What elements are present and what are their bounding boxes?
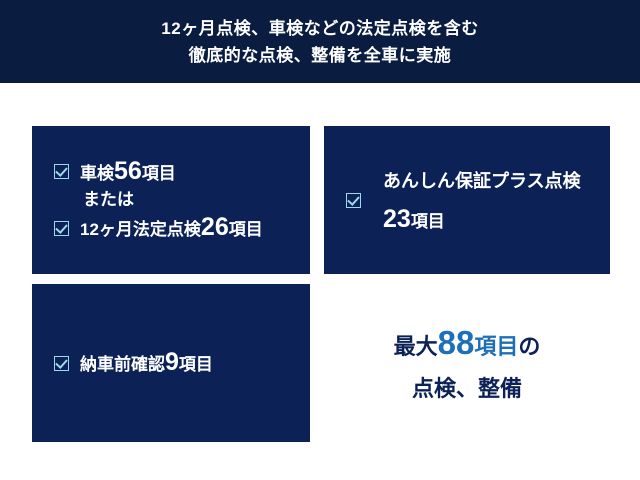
header-line-1: 12ヶ月点検、車検などの法定点検を含む [161,15,478,42]
card-delivery-content: 納車前確認9項目 [32,284,310,442]
card-inspection: 車検56項目 または 12ヶ月法定点検26項目 [32,126,310,274]
card-delivery: 納車前確認9項目 [32,284,310,442]
inspection-row-1-label: 車検56項目 [80,155,176,189]
infographic-page: 12ヶ月点検、車検などの法定点検を含む 徹底的な点検、整備を全車に実施 車検56… [0,0,640,480]
checkbox-icon [54,221,69,236]
header-line-2: 徹底的な点検、整備を全車に実施 [189,42,452,69]
warranty-line-2: 23項目 [383,205,581,234]
summary-line-1: 最大88項目の [394,323,541,363]
warranty-line-1: あんしん保証プラス点検 [383,167,581,193]
inspection-row-2: 12ヶ月法定点検26項目 [54,211,310,245]
card-warranty-content: あんしん保証プラス点検 23項目 [324,126,610,274]
checkbox-icon [54,356,69,371]
inspection-row-1: 車検56項目 [54,155,310,189]
inspection-or-row: または [54,189,310,212]
header-banner: 12ヶ月点検、車検などの法定点検を含む 徹底的な点検、整備を全車に実施 [0,0,640,83]
checkbox-icon [346,193,361,208]
checkbox-icon [54,164,69,179]
inspection-row-2-label: 12ヶ月法定点検26項目 [80,211,263,245]
card-inspection-content: 車検56項目 または 12ヶ月法定点検26項目 [32,126,310,274]
delivery-label: 納車前確認9項目 [80,346,213,380]
inspection-or-label: または [83,189,134,212]
summary-block: 最大88項目の 点検、整備 [324,284,610,442]
warranty-text-block: あんしん保証プラス点検 23項目 [383,167,581,234]
summary-line-2: 点検、整備 [412,371,522,403]
card-warranty: あんしん保証プラス点検 23項目 [324,126,610,274]
delivery-row: 納車前確認9項目 [54,346,310,380]
